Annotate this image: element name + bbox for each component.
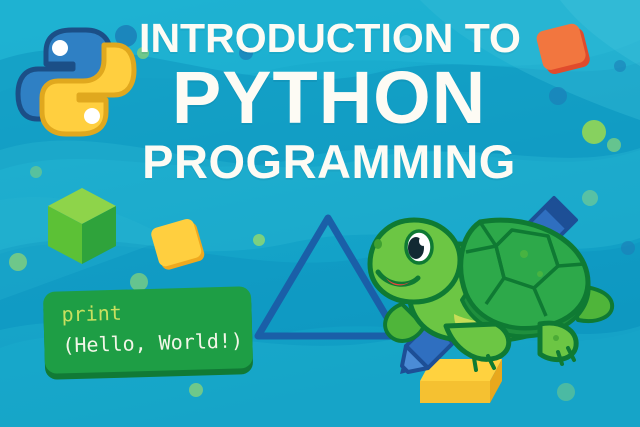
orange-tile-icon	[534, 20, 596, 80]
yellow-tile-icon	[148, 216, 210, 274]
code-line-print: print	[61, 294, 244, 330]
code-card-text: print (Hello, World!)	[61, 294, 245, 361]
python-logo-icon	[12, 18, 140, 146]
green-cube-icon	[44, 186, 120, 268]
turtle-mascot-icon	[362, 192, 622, 377]
code-card: print (Hello, World!)	[43, 286, 253, 374]
poster-canvas: print (Hello, World!) INTRODUCTION TO PY…	[0, 0, 640, 427]
code-line-hello: (Hello, World!)	[62, 325, 245, 361]
